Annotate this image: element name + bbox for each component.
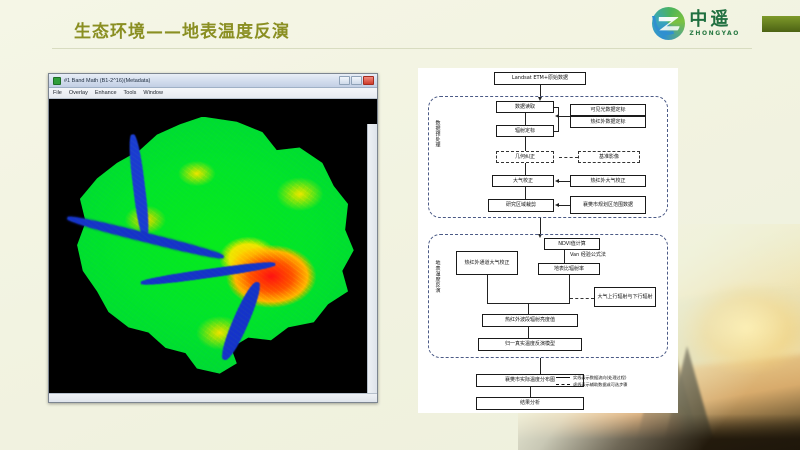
- flow-node-city-planning-extent: 襄樊市规划区范围数据: [570, 196, 646, 214]
- arrow-extent-to-clip: [559, 205, 570, 206]
- flowchart-legend: 实线表示数据流向(处理过程) 虚线表示辅助数据或可选步骤: [556, 374, 627, 388]
- envi-app-icon: [53, 77, 61, 85]
- flow-node-radiometric-calibration: 辐射定标: [496, 125, 554, 137]
- horizontal-scrollbar[interactable]: [49, 393, 377, 403]
- brand-logo: 中遥 ZHONGYAO: [652, 7, 740, 40]
- flow-node-tir-channel-atmos-correction: 热红外通道大气校正: [456, 251, 518, 275]
- zhongyao-z-emblem-icon: [652, 7, 685, 40]
- flow-node-temperature-inversion-model: 归一真实温度反演模型: [478, 338, 582, 351]
- arrow-reference-to-geom: [559, 157, 578, 158]
- connector-calib-bracket-top: [554, 107, 559, 108]
- maximize-icon[interactable]: [351, 76, 362, 85]
- title-divider: [52, 48, 752, 49]
- flow-node-source: Landsat ETM+原始数据: [494, 72, 586, 85]
- group-lst-inversion-label: 地表温度反演: [434, 260, 440, 293]
- flow-node-tir-band-radiance: 热红外波段辐射亮度值: [482, 314, 578, 327]
- brand-name-en: ZHONGYAO: [689, 31, 740, 37]
- envi-titlebar[interactable]: #1 Band Math (B1-2^16)(Metadata): [49, 74, 377, 88]
- arrow-group2-to-result: [540, 358, 541, 374]
- arrow-calibration-to-main: [559, 116, 570, 117]
- arrow-tiratm-to-main: [559, 181, 570, 182]
- workflow-flowchart: Landsat ETM+原始数据 数据预处理 数据读取 辐射定标 几何纠正 大气…: [418, 68, 678, 413]
- emblem-swoosh: [652, 12, 674, 37]
- envi-window-title: #1 Band Math (B1-2^16)(Metadata): [64, 78, 339, 84]
- flow-node-geometric-correction: 几何纠正: [496, 151, 554, 163]
- legend-dashed-label: 虚线表示辅助数据或可选步骤: [573, 381, 627, 388]
- vertical-scrollbar[interactable]: [367, 124, 377, 393]
- legend-item-solid: 实线表示数据流向(处理过程): [556, 374, 627, 381]
- flow-node-reference-image: 基准影像: [578, 151, 640, 163]
- legend-item-dashed: 虚线表示辅助数据或可选步骤: [556, 381, 627, 388]
- envi-menubar[interactable]: File Overlay Enhance Tools Window: [49, 88, 377, 99]
- flow-node-vis-calibration: 可见光数据定标: [570, 104, 646, 116]
- envi-image-canvas[interactable]: [49, 99, 377, 403]
- flow-node-ndvi-calculation: NDVI值计算: [544, 238, 600, 250]
- arrow-ndvi-to-emissivity: [564, 250, 565, 263]
- menu-enhance[interactable]: Enhance: [95, 90, 117, 96]
- slide-canvas: 生态环境——地表温度反演 中遥 ZHONGYAO #1 Band Math (B…: [0, 0, 800, 450]
- arrow-radiance-terms-in: [570, 298, 594, 299]
- arrow-merge-to-radiance-value: [528, 303, 529, 314]
- flow-node-data-read: 数据读取: [496, 101, 554, 113]
- close-icon[interactable]: [363, 76, 374, 85]
- group-preprocessing-label: 数据预处理: [434, 120, 440, 148]
- flow-node-tir-atmospheric-correction: 热红外大气校正: [570, 175, 646, 187]
- flow-node-up-down-radiance: 大气上行辐射与下行辐射: [594, 287, 656, 307]
- flow-node-result-analysis: 结果分析: [476, 397, 584, 410]
- arrow-radiance-to-model: [528, 327, 529, 338]
- window-controls[interactable]: [339, 76, 374, 85]
- header-accent-bar: [762, 16, 800, 32]
- legend-solid-line-icon: [556, 377, 570, 378]
- legend-solid-label: 实线表示数据流向(处理过程): [573, 374, 627, 381]
- brand-name-cn: 中遥: [689, 11, 740, 29]
- lst-raster-image: [59, 105, 369, 397]
- menu-window[interactable]: Window: [143, 90, 163, 96]
- connector-tir-down: [487, 275, 488, 303]
- arrow-geom-to-atmos: [525, 163, 526, 175]
- flow-node-atmospheric-correction: 大气校正: [492, 175, 554, 187]
- flow-node-surface-emissivity: 地表比辐射率: [538, 263, 600, 275]
- lst-temperature-surface: [71, 117, 356, 374]
- menu-overlay[interactable]: Overlay: [69, 90, 88, 96]
- menu-tools[interactable]: Tools: [124, 90, 137, 96]
- arrow-atmos-to-clip: [525, 187, 526, 199]
- arrow-read-to-calib: [525, 113, 526, 125]
- arrow-calib-to-geom: [525, 137, 526, 151]
- brand-logo-text: 中遥 ZHONGYAO: [689, 11, 740, 37]
- arrow-group1-to-group2: [540, 218, 541, 234]
- minimize-icon[interactable]: [339, 76, 350, 85]
- connector-calib-bracket-bottom: [554, 131, 559, 132]
- page-title: 生态环境——地表温度反演: [74, 17, 290, 42]
- flow-node-study-area-clip: 研究区域裁剪: [488, 199, 554, 212]
- menu-file[interactable]: File: [53, 90, 62, 96]
- arrow-map-to-analysis: [530, 387, 531, 397]
- flow-node-tir-calibration: 热红外数据定标: [570, 116, 646, 128]
- legend-dashed-line-icon: [556, 384, 570, 385]
- envi-display-window[interactable]: #1 Band Math (B1-2^16)(Metadata) File Ov…: [48, 73, 378, 403]
- flow-label-van-empirical-method: Van 经验公式法: [568, 250, 626, 260]
- connector-calib-bracket-v: [558, 107, 559, 132]
